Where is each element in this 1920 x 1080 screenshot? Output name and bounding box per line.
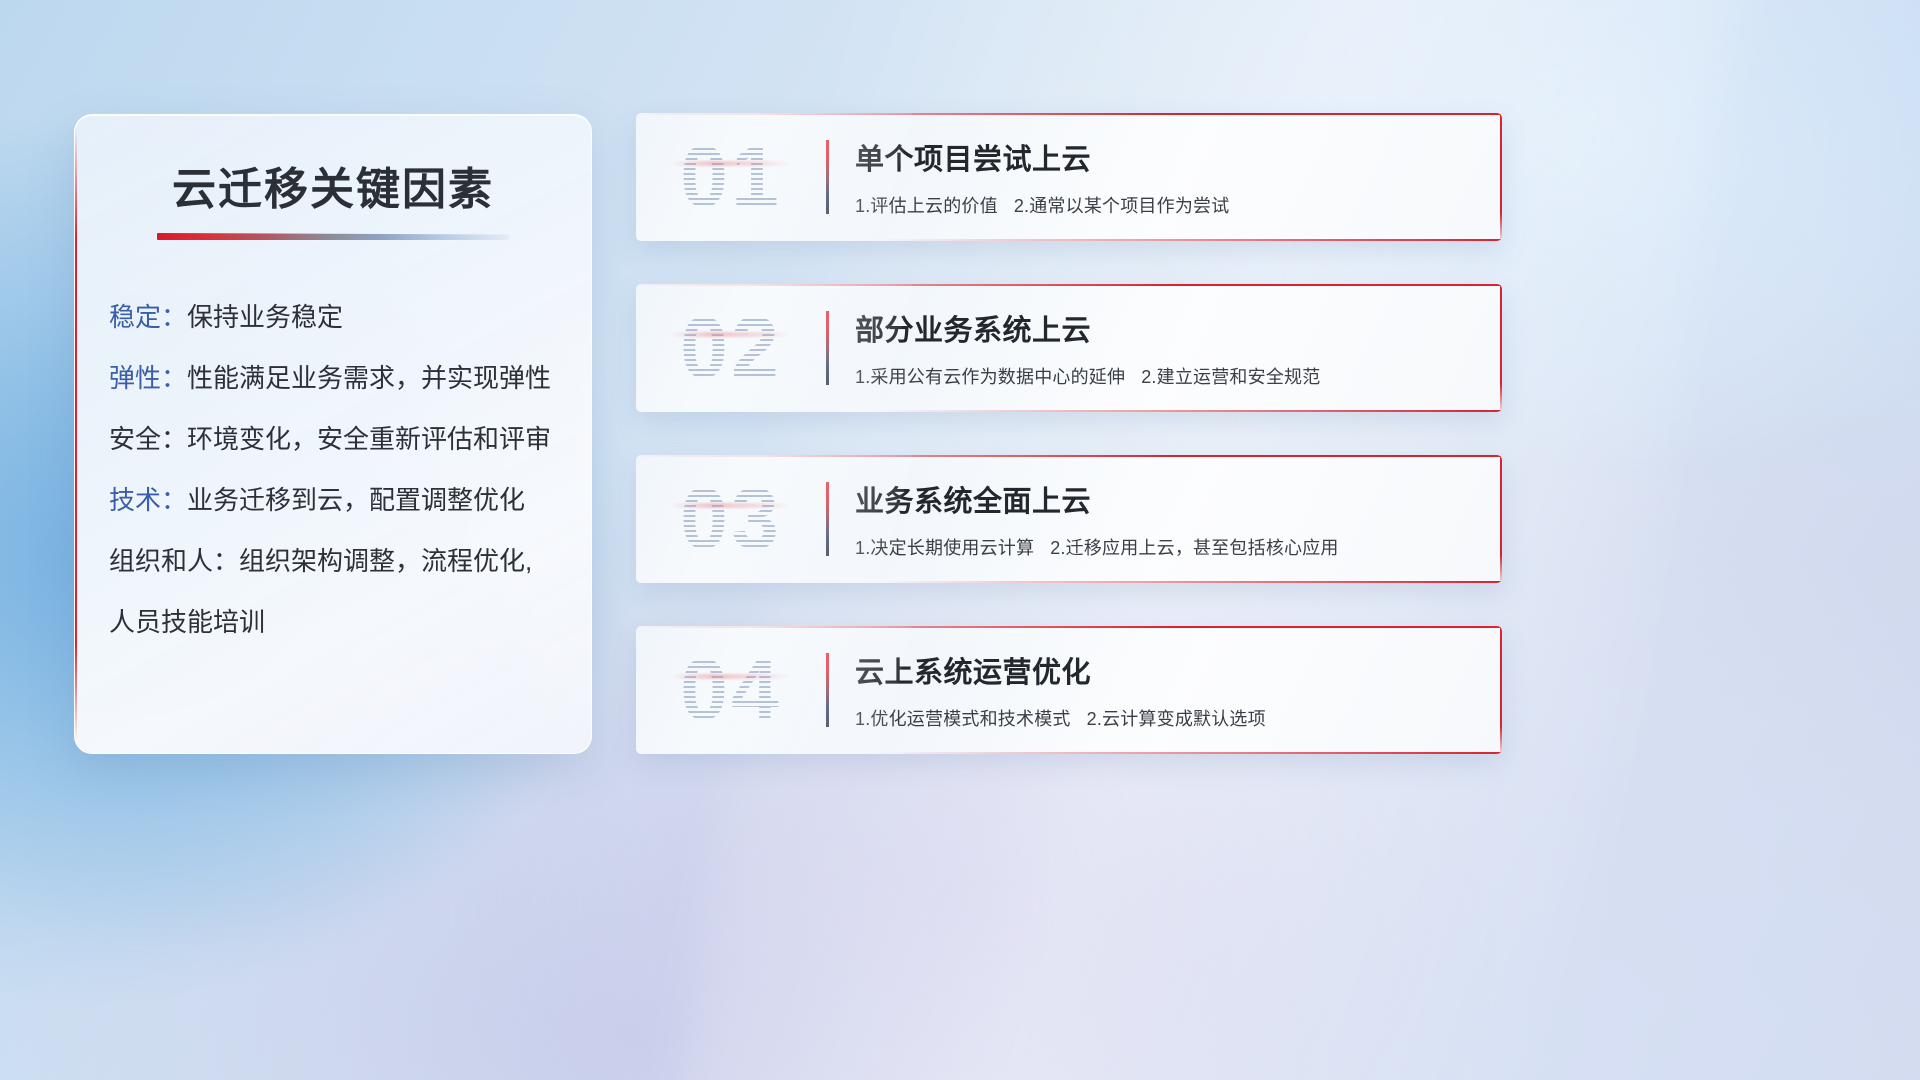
card-body: 部分业务系统上云 1.采用公有云作为数据中心的延伸2.建立运营和安全规范 xyxy=(855,307,1502,389)
card-description-part-1: 1.优化运营模式和技术模式 xyxy=(855,709,1071,729)
card-description: 1.评估上云的价值2.通常以某个项目作为尝试 xyxy=(855,192,1478,218)
factor-key: 稳定： xyxy=(109,302,187,332)
card-edge-right xyxy=(1500,113,1502,241)
card-index-number: 04 xyxy=(636,641,826,740)
card-description: 1.决定长期使用云计算2.迁移应用上云，甚至包括核心应用 xyxy=(855,534,1478,560)
key-factors-panel: 云迁移关键因素 稳定：保持业务稳定 弹性：性能满足业务需求，并实现弹性 安全：环… xyxy=(74,114,592,754)
list-item: 稳定：保持业务稳定 xyxy=(109,304,557,330)
factor-value: 组织架构调整，流程优化, xyxy=(239,546,532,576)
card-description-part-2: 2.迁移应用上云，甚至包括核心应用 xyxy=(1050,538,1338,558)
card-edge-right xyxy=(1500,284,1502,412)
card-edge-right xyxy=(1500,455,1502,583)
list-item: 安全：环境变化，安全重新评估和评审 xyxy=(109,426,557,452)
factor-value: 业务迁移到云，配置调整优化 xyxy=(187,485,525,515)
factor-value: 环境变化，安全重新评估和评审 xyxy=(187,424,551,454)
card-edge-bottom xyxy=(878,581,1502,583)
factor-key: 技术： xyxy=(109,485,187,515)
card-edge-top xyxy=(636,455,1502,457)
list-item: 组织和人：组织架构调整，流程优化, xyxy=(109,548,557,574)
stage-card-list: 01 单个项目尝试上云 1.评估上云的价值2.通常以某个项目作为尝试 02 部分… xyxy=(636,113,1502,754)
list-item: 技术：业务迁移到云，配置调整优化 xyxy=(109,487,557,513)
title-underline-rule xyxy=(157,233,509,240)
factor-value: 性能满足业务需求，并实现弹性 xyxy=(187,363,551,393)
card-edge-bottom xyxy=(878,410,1502,412)
card-index-number: 03 xyxy=(636,470,826,569)
slide-stage: 云迁移关键因素 稳定：保持业务稳定 弹性：性能满足业务需求，并实现弹性 安全：环… xyxy=(0,0,1920,1080)
stage-card[interactable]: 02 部分业务系统上云 1.采用公有云作为数据中心的延伸2.建立运营和安全规范 xyxy=(636,284,1502,412)
factor-key: 组织和人： xyxy=(109,546,239,576)
factor-key: 弹性： xyxy=(109,363,187,393)
card-accent-divider xyxy=(826,653,829,727)
list-item-continuation: 人员技能培训 xyxy=(109,609,557,635)
stage-card[interactable]: 04 云上系统运营优化 1.优化运营模式和技术模式2.云计算变成默认选项 xyxy=(636,626,1502,754)
card-edge-bottom xyxy=(878,239,1502,241)
stage-card[interactable]: 01 单个项目尝试上云 1.评估上云的价值2.通常以某个项目作为尝试 xyxy=(636,113,1502,241)
card-edge-top xyxy=(636,113,1502,115)
card-description: 1.优化运营模式和技术模式2.云计算变成默认选项 xyxy=(855,705,1478,731)
factor-key: 安全： xyxy=(109,424,187,454)
card-description-part-1: 1.采用公有云作为数据中心的延伸 xyxy=(855,367,1125,387)
page-title: 云迁移关键因素 xyxy=(75,153,591,217)
card-edge-top xyxy=(636,626,1502,628)
card-edge-right xyxy=(1500,626,1502,754)
card-title: 云上系统运营优化 xyxy=(855,649,1478,691)
card-description-part-1: 1.评估上云的价值 xyxy=(855,196,998,216)
factor-value: 保持业务稳定 xyxy=(187,302,343,332)
card-index-number: 02 xyxy=(636,299,826,398)
card-title: 业务系统全面上云 xyxy=(855,478,1478,520)
card-description-part-1: 1.决定长期使用云计算 xyxy=(855,538,1034,558)
card-description-part-2: 2.云计算变成默认选项 xyxy=(1087,709,1266,729)
card-body: 业务系统全面上云 1.决定长期使用云计算2.迁移应用上云，甚至包括核心应用 xyxy=(855,478,1502,560)
list-item: 弹性：性能满足业务需求，并实现弹性 xyxy=(109,365,557,391)
card-accent-divider xyxy=(826,140,829,214)
card-edge-bottom xyxy=(878,752,1502,754)
card-index-number: 01 xyxy=(636,128,826,227)
card-title: 单个项目尝试上云 xyxy=(855,136,1478,178)
card-body: 云上系统运营优化 1.优化运营模式和技术模式2.云计算变成默认选项 xyxy=(855,649,1502,731)
card-body: 单个项目尝试上云 1.评估上云的价值2.通常以某个项目作为尝试 xyxy=(855,136,1502,218)
card-description-part-2: 2.通常以某个项目作为尝试 xyxy=(1014,196,1230,216)
card-edge-top xyxy=(636,284,1502,286)
card-description: 1.采用公有云作为数据中心的延伸2.建立运营和安全规范 xyxy=(855,363,1478,389)
card-accent-divider xyxy=(826,311,829,385)
card-accent-divider xyxy=(826,482,829,556)
card-title: 部分业务系统上云 xyxy=(855,307,1478,349)
factor-list: 稳定：保持业务稳定 弹性：性能满足业务需求，并实现弹性 安全：环境变化，安全重新… xyxy=(75,304,591,635)
stage-card[interactable]: 03 业务系统全面上云 1.决定长期使用云计算2.迁移应用上云，甚至包括核心应用 xyxy=(636,455,1502,583)
card-description-part-2: 2.建立运营和安全规范 xyxy=(1141,367,1320,387)
